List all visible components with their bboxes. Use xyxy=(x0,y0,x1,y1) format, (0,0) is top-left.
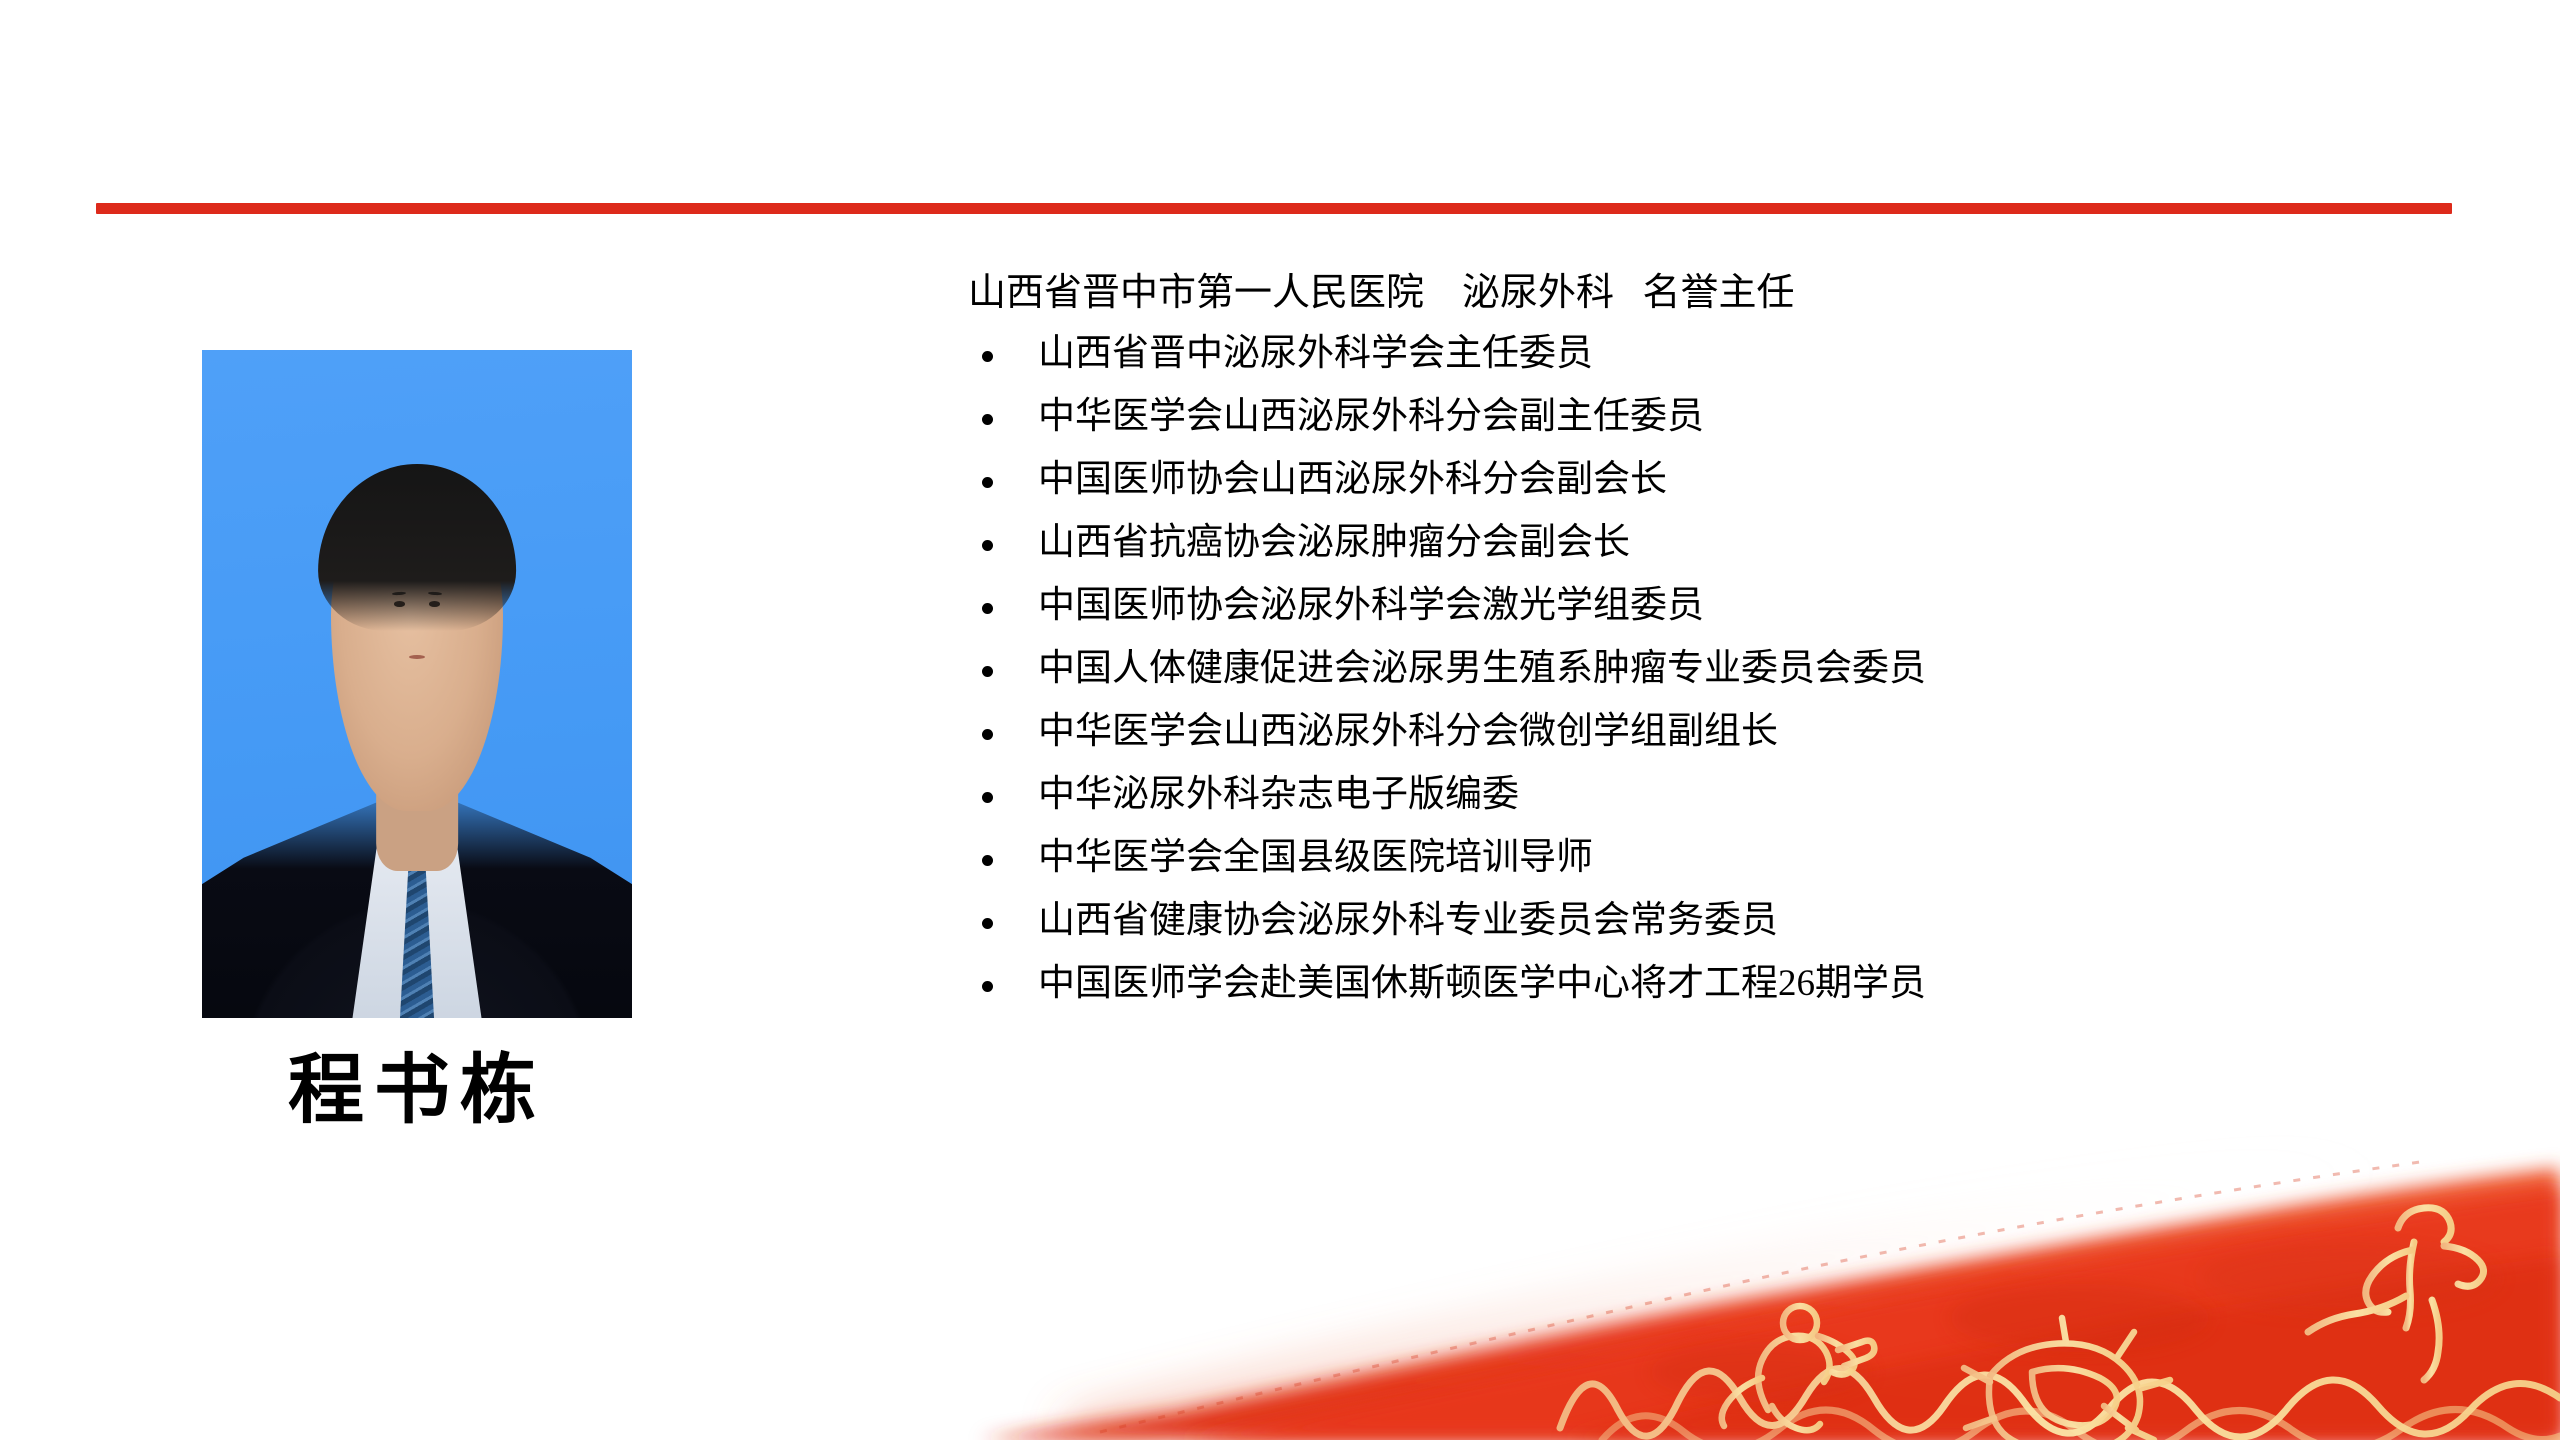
drinking-figure xyxy=(1722,1306,1875,1430)
credentials-panel: 山西省晋中市第一人民医院 泌尿外科 名誉主任 山西省晋中泌尿外科学会主任委员 中… xyxy=(968,268,2438,1028)
wave-lines xyxy=(1560,1368,2560,1440)
red-watercolor-band xyxy=(0,1110,2560,1440)
credential-item: 中国医师协会泌尿外科学会激光学组委员 xyxy=(968,587,2438,624)
runner-figure-main xyxy=(2308,1208,2484,1380)
header-accent-rule xyxy=(96,203,2452,214)
credential-item: 中国医师学会赴美国休斯顿医学中心将才工程26期学员 xyxy=(968,965,2438,1002)
credential-item: 中华泌尿外科杂志电子版编委 xyxy=(968,776,2438,813)
credentials-list: 山西省晋中泌尿外科学会主任委员 中华医学会山西泌尿外科分会副主任委员 中国医师协… xyxy=(968,335,2438,1002)
credential-item: 中华医学会山西泌尿外科分会微创学组副组长 xyxy=(968,713,2438,750)
portrait-mouth xyxy=(409,655,424,659)
credential-item: 山西省健康协会泌尿外科专业委员会常务委员 xyxy=(968,902,2438,939)
credential-item: 山西省晋中泌尿外科学会主任委员 xyxy=(968,335,2438,372)
credential-item: 山西省抗癌协会泌尿肿瘤分会副会长 xyxy=(968,524,2438,561)
band-artwork xyxy=(0,1110,2560,1440)
credential-item: 中华医学会全国县级医院培训导师 xyxy=(968,839,2438,876)
affiliation-heading: 山西省晋中市第一人民医院 泌尿外科 名誉主任 xyxy=(968,268,2438,319)
credential-item: 中国人体健康促进会泌尿男生殖系肿瘤专业委员会委员 xyxy=(968,650,2438,687)
portrait-photo xyxy=(202,350,632,1018)
person-name: 程书栋 xyxy=(202,1052,632,1132)
sun-badge-figure xyxy=(1964,1318,2170,1440)
wash-shapes xyxy=(980,1110,2560,1440)
credential-item: 中华医学会山西泌尿外科分会副主任委员 xyxy=(968,398,2438,435)
portrait-block: 程书栋 xyxy=(202,350,632,1132)
credential-item: 中国医师协会山西泌尿外科分会副会长 xyxy=(968,461,2438,498)
